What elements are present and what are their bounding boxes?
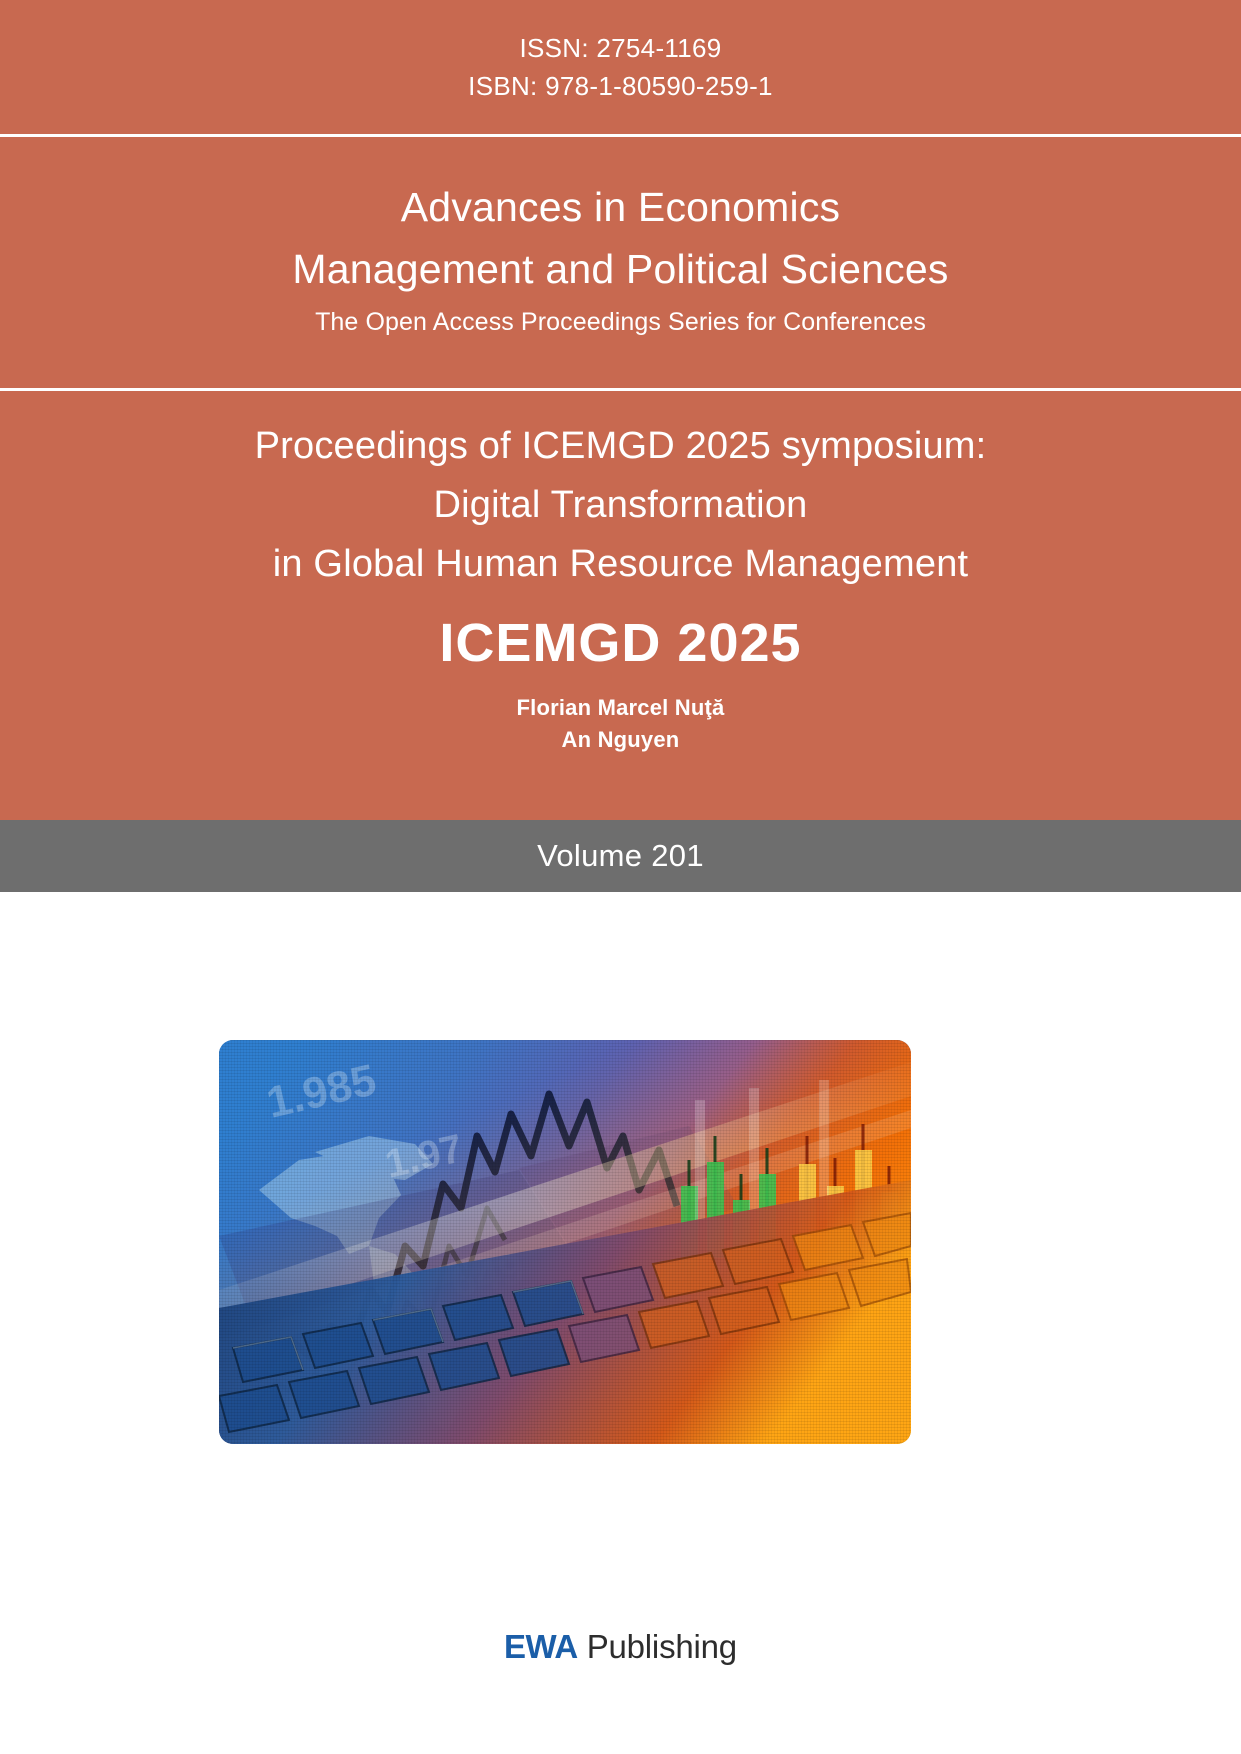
cover-art-image: 1.985 1.97 649 [219, 1040, 911, 1444]
series-title-line-1: Advances in Economics [401, 176, 840, 238]
editors-list: Florian Marcel Nuţă An Nguyen [517, 692, 725, 756]
cover-art-area: 1.985 1.97 649 [0, 892, 1241, 1754]
proceedings-title-line-1: Proceedings of ICEMGD 2025 symposium: [255, 417, 987, 476]
cover-artwork: 1.985 1.97 649 [219, 1040, 911, 1444]
volume-label: Volume 201 [537, 838, 704, 874]
volume-band: Volume 201 [0, 820, 1241, 892]
publisher-name-text: Publishing [587, 1628, 737, 1666]
isbn-text: ISBN: 978-1-80590-259-1 [468, 67, 773, 105]
conference-acronym: ICEMGD 2025 [439, 606, 801, 680]
proceedings-title-line-2: Digital Transformation [434, 476, 808, 535]
proceedings-band: Proceedings of ICEMGD 2025 symposium: Di… [0, 391, 1241, 820]
publisher-accent-text: EWA [504, 1628, 578, 1666]
issn-text: ISSN: 2754-1169 [519, 29, 721, 67]
series-band: Advances in Economics Management and Pol… [0, 137, 1241, 388]
publisher-logo: EWA Publishing [0, 1628, 1241, 1666]
editor-name: An Nguyen [517, 724, 725, 756]
series-title-line-2: Management and Political Sciences [292, 238, 948, 300]
proceedings-title-line-3: in Global Human Resource Management [273, 535, 969, 594]
book-cover: ISSN: 2754-1169 ISBN: 978-1-80590-259-1 … [0, 0, 1241, 1754]
series-subtitle: The Open Access Proceedings Series for C… [315, 300, 926, 344]
editor-name: Florian Marcel Nuţă [517, 692, 725, 724]
identifiers-band: ISSN: 2754-1169 ISBN: 978-1-80590-259-1 [0, 0, 1241, 134]
